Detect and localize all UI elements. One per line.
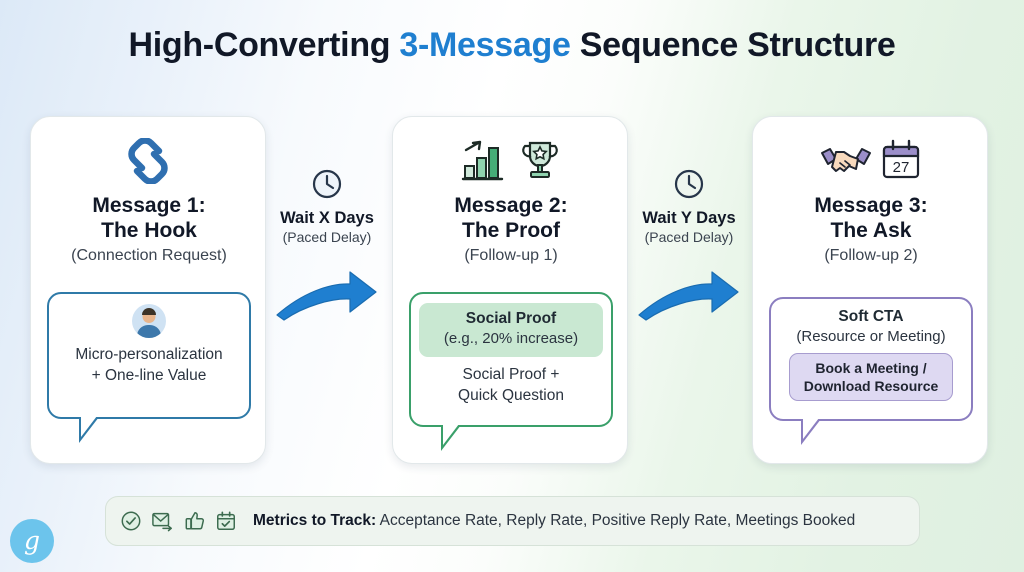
card-1-bubble-line2: + One-line Value [92,367,207,384]
cta-button-line1: Book a Meeting / [815,360,926,376]
envelope-arrow-icon [151,510,175,532]
card-1-title-line1: Message 1: [92,194,205,217]
card-1-bubble-line1: Micro-personalization [75,346,222,363]
connector-2-label: Wait Y Days [634,208,744,228]
metrics-bar: Metrics to Track: Acceptance Rate, Reply… [105,496,920,546]
infographic-canvas: High-Converting 3-Message Sequence Struc… [0,0,1024,572]
social-proof-highlight: Social Proof (e.g., 20% increase) [419,303,603,357]
bubble-tail-inner [803,418,819,439]
card-1-title: Message 1: The Hook [39,193,259,243]
connector-2: Wait Y Days (Paced Delay) [634,168,744,246]
card-1-bubble-text: Micro-personalization + One-line Value [49,344,249,386]
message-card-1[interactable]: Message 1: The Hook (Connection Request)… [30,116,266,464]
title-highlight: 3-Message [399,26,570,64]
cta-button-line2: Download Resource [804,378,939,394]
card-2-title-line1: Message 2: [454,194,567,217]
thumbs-up-icon [184,510,206,532]
bar-chart-trophy-icon [393,133,627,189]
soft-cta-subtitle: (Resource or Meeting) [779,327,963,347]
card-2-subtitle: (Follow-up 1) [399,247,623,265]
card-1-subtitle: (Connection Request) [37,247,261,265]
card-1-speech-bubble: Micro-personalization + One-line Value [47,292,251,419]
title-part-2: Sequence Structure [571,26,896,64]
card-3-subtitle: (Follow-up 2) [759,247,983,265]
connector-1-sub: (Paced Delay) [272,228,382,246]
card-3-title: Message 3: The Ask [761,193,981,243]
card-2-bubble-line1: Social Proof + [463,366,560,383]
metrics-text: Metrics to Track: Acceptance Rate, Reply… [253,512,855,530]
message-card-2[interactable]: Message 2: The Proof (Follow-up 1) Socia… [392,116,628,464]
metrics-label: Metrics to Track: [253,512,376,529]
card-2-bubble-line2: Quick Question [458,387,564,404]
curved-arrow-right-icon [274,268,380,324]
title-part-1: High-Converting [128,26,399,64]
connector-1-label: Wait X Days [272,208,382,228]
chain-link-icon [31,133,265,189]
connector-1: Wait X Days (Paced Delay) [272,168,382,246]
curved-arrow-right-icon [636,268,742,324]
card-3-title-line1: Message 3: [814,194,927,217]
handshake-calendar-icon: 27 [753,133,987,189]
calendar-day: 27 [893,159,910,176]
metrics-values: Acceptance Rate, Reply Rate, Positive Re… [376,512,855,529]
user-avatar-icon [132,304,166,338]
bubble-tail-inner [81,416,97,437]
book-meeting-button[interactable]: Book a Meeting / Download Resource [789,353,953,401]
card-3-speech-bubble: Soft CTA (Resource or Meeting) Book a Me… [769,297,973,421]
check-circle-icon [120,510,142,532]
social-proof-example: (e.g., 20% increase) [423,329,599,349]
soft-cta-title: Soft CTA [779,307,963,327]
card-1-title-line2: The Hook [101,219,197,242]
brand-logo-glyph: g [24,528,40,553]
card-2-bubble-text: Social Proof + Quick Question [419,364,603,406]
bubble-tail-inner [443,424,459,445]
calendar-icon: 27 [880,139,922,183]
card-3-title-line2: The Ask [831,219,912,242]
clock-icon [673,168,705,200]
handshake-icon [818,139,874,183]
card-2-title-line2: The Proof [462,219,560,242]
clock-icon [311,168,343,200]
card-2-speech-bubble: Social Proof (e.g., 20% increase) Social… [409,292,613,427]
message-card-3[interactable]: 27 Message 3: The Ask (Follow-up 2) Soft… [752,116,988,464]
card-2-title: Message 2: The Proof [401,193,621,243]
page-title: High-Converting 3-Message Sequence Struc… [0,26,1024,65]
brand-logo[interactable]: g [10,519,54,563]
calendar-check-icon [215,510,237,532]
social-proof-title: Social Proof [423,309,599,329]
connector-2-sub: (Paced Delay) [634,228,744,246]
